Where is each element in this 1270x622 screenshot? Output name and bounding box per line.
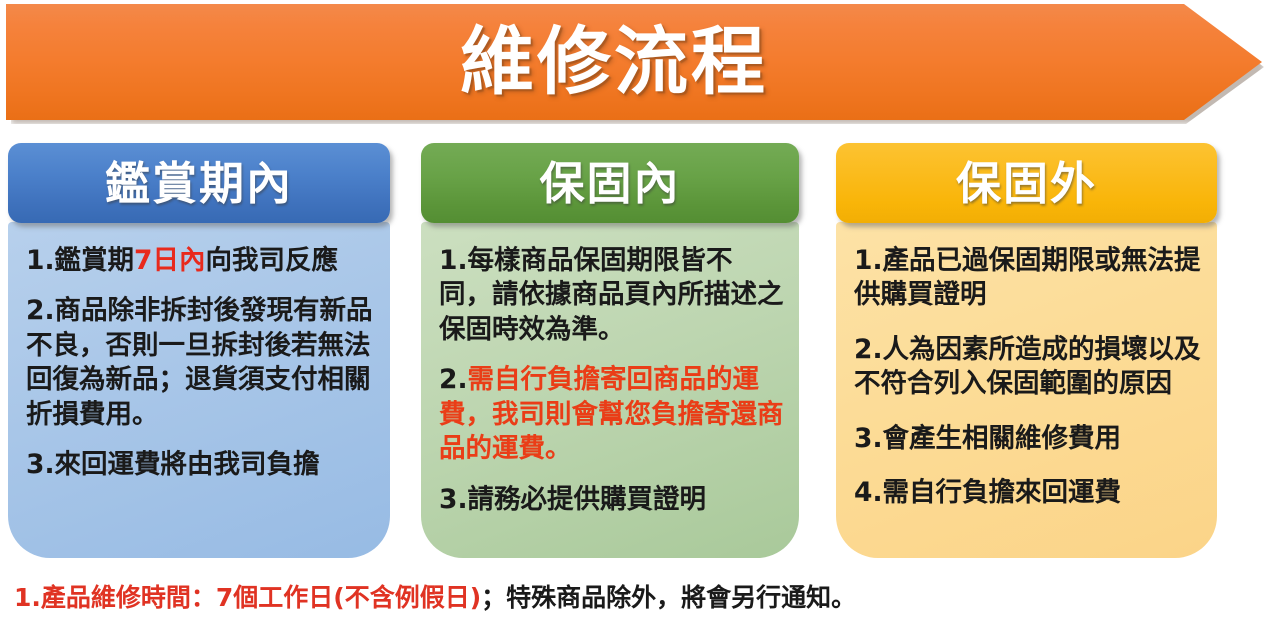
column-body-inspection-period: 1.鑑賞期7日內向我司反應 2.商品除非拆封後發現有新品不良，否則一旦拆封後若無… bbox=[8, 222, 390, 558]
item-number: 2. bbox=[26, 295, 55, 326]
list-item: 1.產品已過保固期限或無法提供購買證明 bbox=[854, 244, 1203, 313]
item-number: 3. bbox=[439, 484, 468, 515]
item-text: 請務必提供購買證明 bbox=[468, 484, 707, 515]
list-item: 4.需自行負擔來回運費 bbox=[854, 476, 1203, 510]
column-inspection-period: 鑑賞期內 1.鑑賞期7日內向我司反應 2.商品除非拆封後發現有新品不良，否則一旦… bbox=[6, 136, 392, 560]
page-header-banner: 維修流程 bbox=[6, 4, 1264, 122]
column-header-out-of-warranty: 保固外 bbox=[836, 143, 1217, 223]
item-number: 2. bbox=[439, 364, 468, 395]
column-out-of-warranty: 保固外 1.產品已過保固期限或無法提供購買證明 2.人為因素所造成的損壞以及不符… bbox=[834, 136, 1224, 560]
page-title: 維修流程 bbox=[460, 25, 768, 99]
item-text: 商品除非拆封後發現有新品不良，否則一旦拆封後若無法回復為新品；退貨須支付相關折損… bbox=[26, 295, 373, 429]
item-number: 1. bbox=[26, 245, 55, 276]
item-text: 需自行負擔來回運費 bbox=[883, 477, 1122, 508]
column-header-label: 鑑賞期內 bbox=[105, 161, 293, 206]
column-header-label: 保固內 bbox=[539, 161, 680, 206]
list-item: 1.每樣商品保固期限皆不同，請依據商品頁內所描述之保固時效為準。 bbox=[439, 244, 785, 347]
column-body-in-warranty: 1.每樣商品保固期限皆不同，請依據商品頁內所描述之保固時效為準。 2.需自行負擔… bbox=[421, 222, 799, 558]
list-item: 3.來回運費將由我司負擔 bbox=[26, 448, 376, 482]
column-body-out-of-warranty: 1.產品已過保固期限或無法提供購買證明 2.人為因素所造成的損壞以及不符合列入保… bbox=[836, 222, 1217, 558]
list-item: 3.會產生相關維修費用 bbox=[854, 422, 1203, 456]
item-text-highlight: 需自行負擔寄回商品的運費，我司則會幫您負擔寄還商品的運費。 bbox=[439, 364, 784, 464]
list-item: 2.商品除非拆封後發現有新品不良，否則一旦拆封後若無法回復為新品；退貨須支付相關… bbox=[26, 294, 376, 432]
footer-note-red: 產品維修時間：7個工作日(不含例假日) bbox=[41, 583, 481, 612]
column-header-inspection-period: 鑑賞期內 bbox=[8, 143, 390, 223]
list-item: 2.人為因素所造成的損壞以及不符合列入保固範圍的原因 bbox=[854, 333, 1203, 402]
item-text: 向我司反應 bbox=[205, 245, 338, 276]
item-number: 2. bbox=[854, 334, 883, 365]
item-number: 4. bbox=[854, 477, 883, 508]
item-text: 人為因素所造成的損壞以及不符合列入保固範圍的原因 bbox=[854, 334, 1201, 399]
item-text: 會產生相關維修費用 bbox=[883, 423, 1122, 454]
item-text: 鑑賞期 bbox=[55, 245, 135, 276]
footer-note: 1.產品維修時間：7個工作日(不含例假日)；特殊商品除外，將會另行通知。 bbox=[14, 583, 856, 613]
item-number: 3. bbox=[854, 423, 883, 454]
column-header-in-warranty: 保固內 bbox=[421, 143, 799, 223]
item-text: 來回運費將由我司負擔 bbox=[55, 449, 320, 480]
item-number: 1. bbox=[854, 245, 883, 276]
column-in-warranty: 保固內 1.每樣商品保固期限皆不同，請依據商品頁內所描述之保固時效為準。 2.需… bbox=[419, 136, 805, 560]
banner-arrow-shape: 維修流程 bbox=[6, 4, 1262, 120]
item-text-highlight: 7日內 bbox=[134, 245, 205, 276]
footer-note-black: ；特殊商品除外，將會另行通知。 bbox=[481, 583, 856, 612]
process-columns: 鑑賞期內 1.鑑賞期7日內向我司反應 2.商品除非拆封後發現有新品不良，否則一旦… bbox=[0, 136, 1270, 566]
footer-number: 1. bbox=[14, 583, 41, 612]
list-item: 3.請務必提供購買證明 bbox=[439, 483, 785, 517]
item-number: 3. bbox=[26, 449, 55, 480]
list-item: 1.鑑賞期7日內向我司反應 bbox=[26, 244, 376, 278]
item-number: 1. bbox=[439, 245, 468, 276]
list-item: 2.需自行負擔寄回商品的運費，我司則會幫您負擔寄還商品的運費。 bbox=[439, 363, 785, 466]
column-header-label: 保固外 bbox=[956, 161, 1097, 206]
item-text: 產品已過保固期限或無法提供購買證明 bbox=[854, 245, 1201, 310]
item-text: 每樣商品保固期限皆不同，請依據商品頁內所描述之保固時效為準。 bbox=[439, 245, 784, 345]
